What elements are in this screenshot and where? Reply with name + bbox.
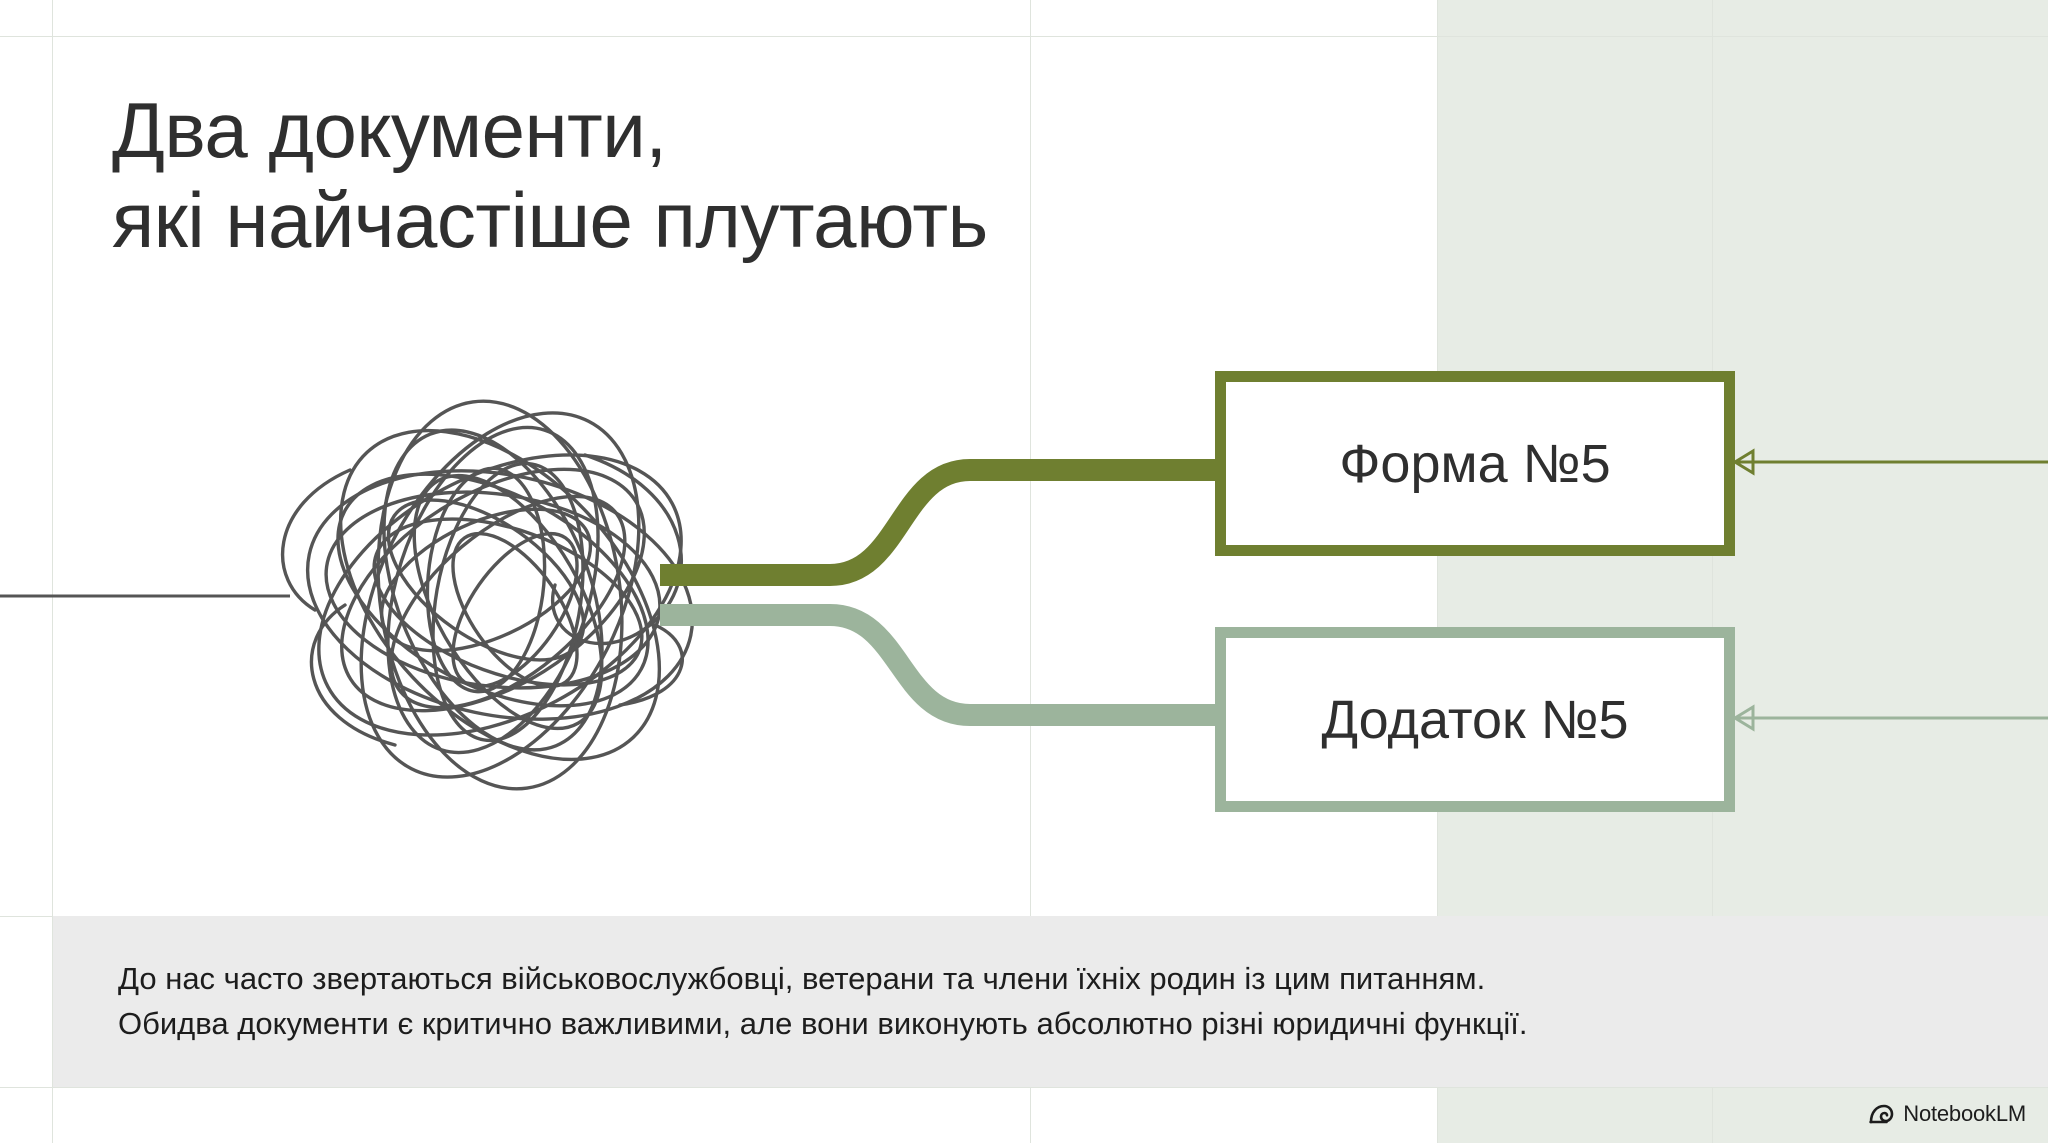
node-form-5[interactable]: Форма №5	[1215, 371, 1735, 556]
node-annex-5-label: Додаток №5	[1321, 689, 1628, 751]
page-title: Два документи, які найчастіше плутають	[112, 85, 988, 266]
notebooklm-spiral-icon	[1868, 1103, 1894, 1125]
caption-line-2: Обидва документи є критично важливими, а…	[118, 1002, 2048, 1046]
notebooklm-watermark: NotebookLM	[1868, 1101, 2026, 1127]
grid-line-horizontal-1	[0, 36, 2048, 37]
tangle-scribble-icon	[271, 367, 728, 823]
branching-diagram	[0, 240, 2048, 900]
node-annex-5[interactable]: Додаток №5	[1215, 627, 1735, 812]
caption-line-1: До нас часто звертаються військовослужбо…	[118, 957, 2048, 1001]
notebooklm-watermark-label: NotebookLM	[1903, 1101, 2026, 1127]
branch-ribbon-form	[660, 470, 1225, 575]
caption-band: До нас часто звертаються військовослужбо…	[53, 916, 2048, 1087]
slide-canvas: Два документи, які найчастіше плутають	[0, 0, 2048, 1143]
grid-line-horizontal-3	[0, 1087, 2048, 1088]
node-form-5-label: Форма №5	[1339, 433, 1610, 495]
branch-ribbon-annex	[660, 615, 1225, 715]
